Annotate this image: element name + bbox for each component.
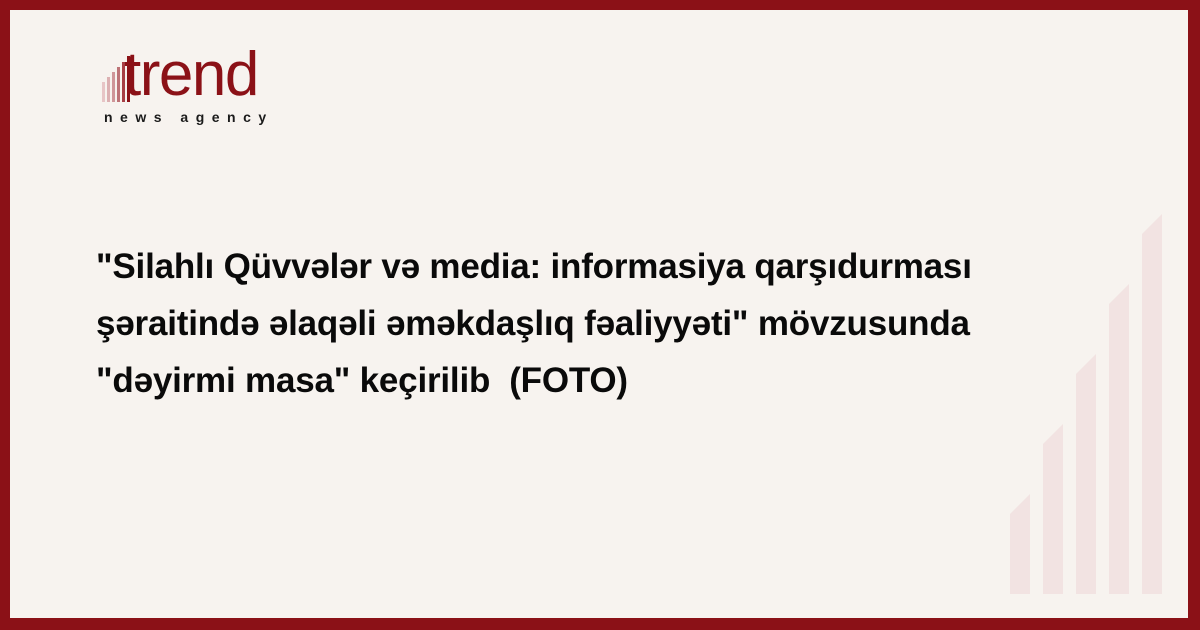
decor-bar-tip bbox=[1010, 494, 1030, 514]
logo-mark-bar-4 bbox=[117, 67, 120, 102]
decor-bar-tip bbox=[1076, 354, 1096, 374]
logo-mark-bar-2 bbox=[107, 77, 110, 102]
decor-bar-tip bbox=[1109, 284, 1129, 304]
decor-bar-4 bbox=[1109, 284, 1129, 594]
decor-bar-tip bbox=[1043, 424, 1063, 444]
decor-bar-tip bbox=[1142, 214, 1162, 234]
decor-bar-3 bbox=[1076, 354, 1096, 594]
decor-bar-body bbox=[1076, 374, 1096, 594]
social-share-card: trend news agency "Silahlı Qüvvələr və m… bbox=[0, 0, 1200, 630]
decor-bar-body bbox=[1010, 514, 1030, 594]
logo-mark-bar-3 bbox=[112, 72, 115, 102]
logo-wordmark: trend bbox=[124, 44, 258, 106]
decor-bar-body bbox=[1142, 234, 1162, 594]
decor-bar-body bbox=[1109, 304, 1129, 594]
logo-tagline: news agency bbox=[104, 109, 274, 125]
trend-news-agency-logo[interactable]: trend news agency bbox=[95, 48, 395, 138]
headline-text: "Silahlı Qüvvələr və media: informasiya … bbox=[96, 238, 1071, 409]
decor-bar-body bbox=[1043, 444, 1063, 594]
decor-bar-1 bbox=[1010, 494, 1030, 594]
decor-bar-2 bbox=[1043, 424, 1063, 594]
logo-mark-bar-1 bbox=[102, 82, 105, 102]
decor-bar-5 bbox=[1142, 214, 1162, 594]
card-surface: trend news agency "Silahlı Qüvvələr və m… bbox=[10, 10, 1188, 618]
